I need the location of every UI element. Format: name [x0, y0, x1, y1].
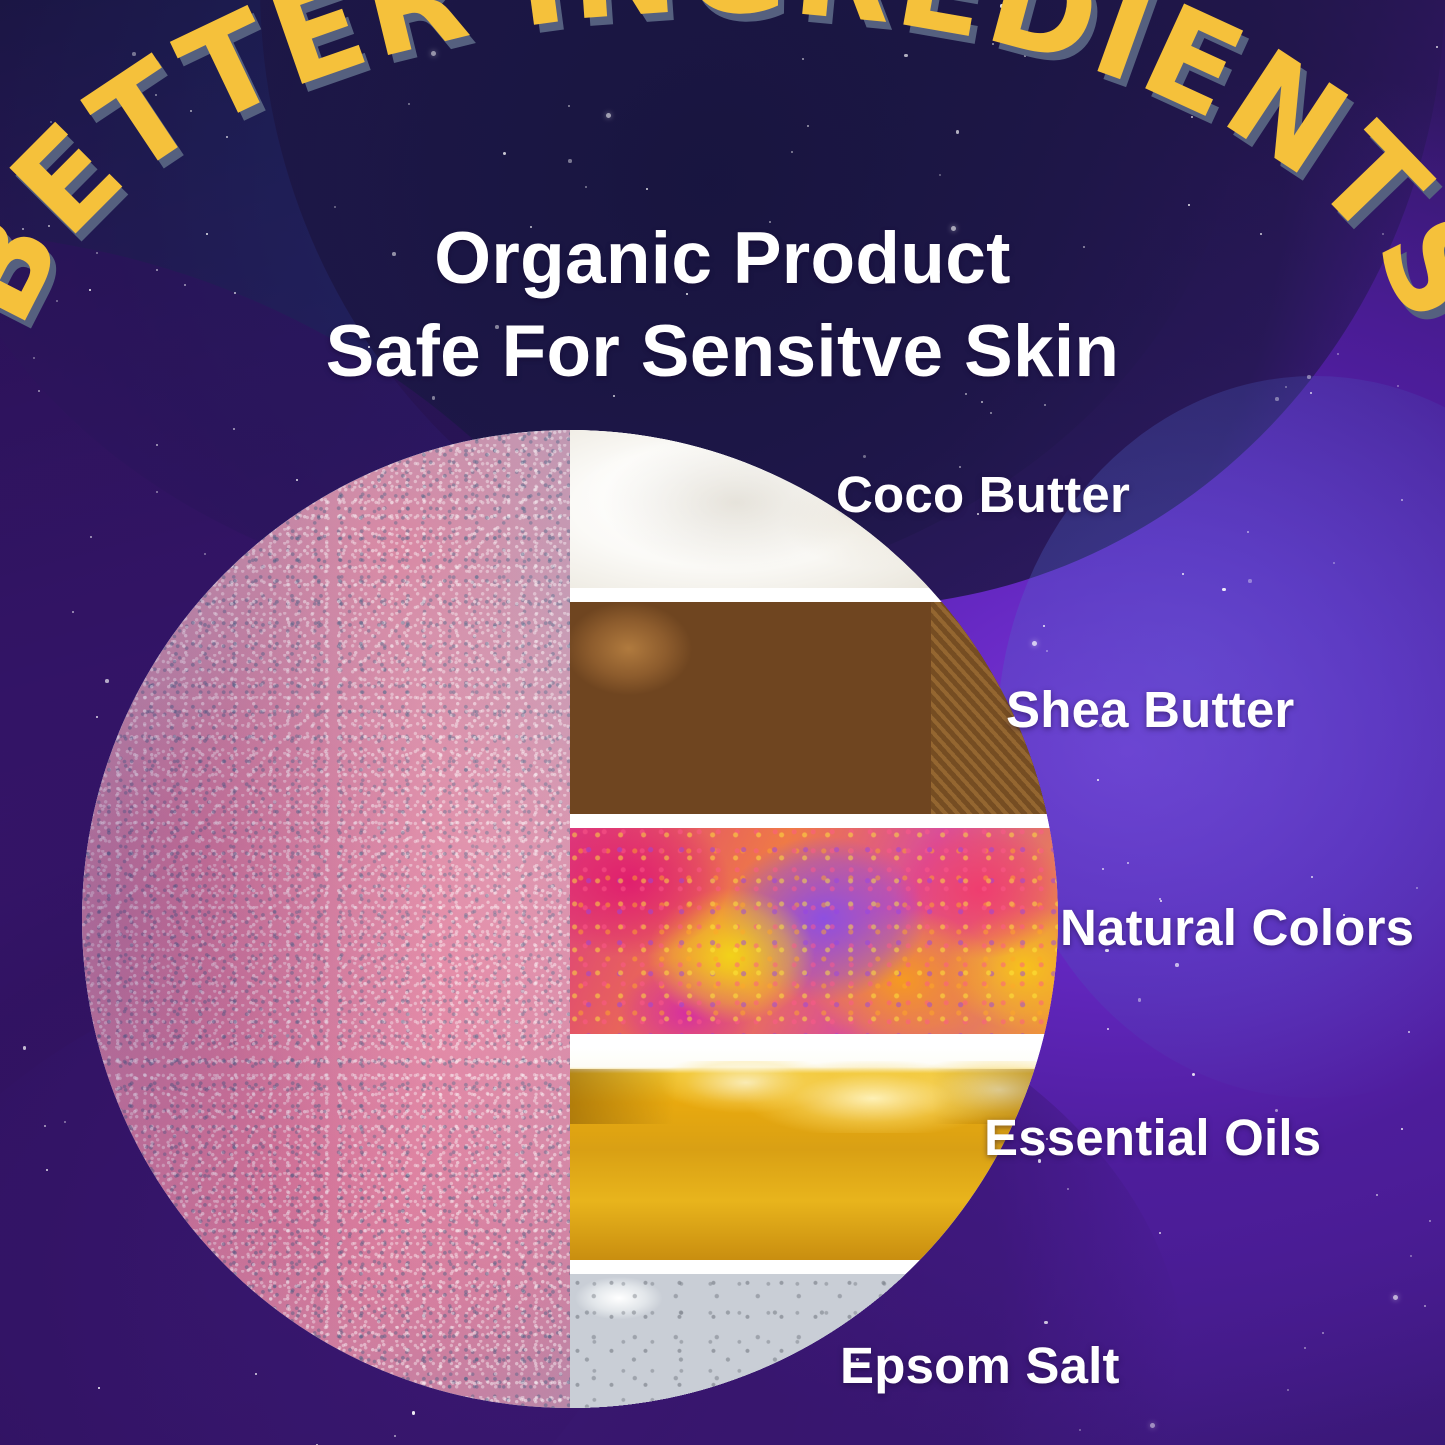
star-dot — [568, 159, 572, 163]
star-dot — [904, 54, 908, 58]
ingredient-swatch-shea-butter — [570, 602, 1058, 814]
star-dot — [503, 152, 507, 156]
ingredient-label-coco-butter: Coco Butter — [836, 465, 1130, 524]
star-dot — [1401, 499, 1403, 501]
strip-divider — [570, 814, 1058, 828]
star-dot — [1410, 1255, 1412, 1257]
star-dot — [1138, 998, 1142, 1002]
star-dot — [1436, 46, 1438, 48]
ingredient-strips-half — [570, 430, 1058, 1408]
strip-divider — [570, 1260, 1058, 1274]
star-dot — [1079, 1429, 1081, 1431]
star-dot — [1429, 1220, 1431, 1222]
star-dot — [1067, 1188, 1069, 1190]
bath-bomb-half — [82, 430, 570, 1408]
strip-divider — [570, 588, 1058, 602]
star-dot — [394, 1435, 396, 1437]
subheadline: Organic Product Safe For Sensitve Skin — [0, 212, 1445, 399]
star-dot — [1222, 588, 1226, 592]
star-dot — [80, 164, 84, 168]
star-dot — [1150, 1423, 1155, 1428]
star-dot — [1192, 1073, 1196, 1077]
star-dot — [408, 103, 410, 105]
strip-divider — [570, 1034, 1058, 1048]
star-dot — [1311, 876, 1313, 878]
star-dot — [70, 167, 72, 169]
star-dot — [1102, 868, 1104, 870]
star-dot — [1401, 1128, 1403, 1130]
ingredient-label-natural-colors: Natural Colors — [1060, 898, 1414, 957]
star-dot — [1304, 1347, 1306, 1349]
star-dot — [791, 151, 793, 153]
star-dot — [1107, 1028, 1109, 1030]
star-dot — [1376, 1194, 1378, 1196]
star-dot — [1127, 862, 1129, 864]
star-dot — [1159, 1232, 1161, 1234]
star-dot — [1182, 573, 1184, 575]
star-dot — [1175, 963, 1179, 967]
star-dot — [1097, 779, 1099, 781]
ingredient-label-epsom-salt: Epsom Salt — [840, 1336, 1120, 1395]
star-dot — [956, 130, 960, 134]
star-dot — [1247, 531, 1249, 533]
subheadline-line-2: Safe For Sensitve Skin — [0, 305, 1445, 398]
ingredient-label-shea-butter: Shea Butter — [1006, 680, 1294, 739]
product-infographic: BETTER INGREDIENTS BETTER INGREDIENTS Or… — [0, 0, 1445, 1445]
star-dot — [990, 412, 992, 414]
star-dot — [190, 110, 192, 112]
subheadline-line-1: Organic Product — [434, 218, 1010, 299]
star-dot — [1322, 1332, 1324, 1334]
star-dot — [568, 105, 570, 107]
star-dot — [939, 174, 941, 176]
star-dot — [1416, 887, 1418, 889]
star-dot — [50, 121, 52, 123]
bath-bomb-shading — [82, 430, 570, 1408]
star-dot — [64, 1121, 66, 1123]
star-dot — [1287, 1389, 1289, 1391]
star-dot — [1044, 404, 1046, 406]
star-dot — [1408, 1031, 1410, 1033]
star-dot — [412, 1411, 416, 1415]
star-dot — [1248, 579, 1252, 583]
star-dot — [1188, 204, 1190, 206]
star-dot — [1424, 1305, 1426, 1307]
star-dot — [132, 52, 136, 56]
star-dot — [334, 206, 336, 208]
star-dot — [72, 611, 74, 613]
star-dot — [807, 125, 809, 127]
star-dot — [226, 136, 228, 138]
star-dot — [1191, 116, 1193, 118]
star-dot — [1333, 562, 1335, 564]
star-dot — [1024, 55, 1026, 57]
star-dot — [802, 58, 804, 60]
star-dot — [1393, 1295, 1398, 1300]
ingredient-swatch-natural-colors — [570, 828, 1058, 1034]
star-dot — [155, 94, 157, 96]
star-dot — [606, 113, 611, 118]
star-dot — [981, 401, 983, 403]
star-dot — [585, 186, 587, 188]
star-dot — [646, 188, 648, 190]
star-dot — [44, 1125, 46, 1127]
star-dot — [23, 1046, 27, 1050]
star-dot — [992, 43, 994, 45]
star-dot — [1000, 4, 1004, 8]
star-dot — [431, 51, 436, 56]
star-dot — [46, 1169, 48, 1171]
product-circle — [82, 430, 1058, 1408]
ingredient-label-essential-oils: Essential Oils — [984, 1108, 1321, 1167]
